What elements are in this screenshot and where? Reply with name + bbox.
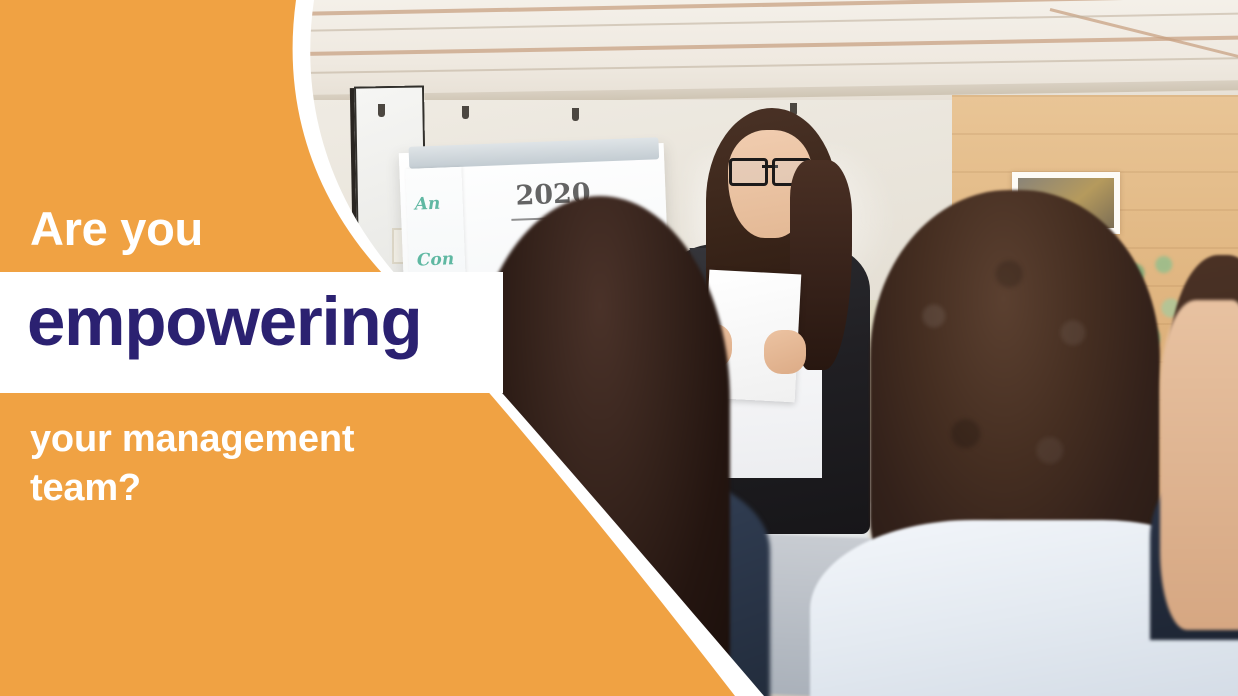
attendee-right-arm: [1160, 300, 1238, 630]
promo-banner: An Con 2020 10: [0, 0, 1238, 696]
attendee-front-left-head: [470, 196, 730, 696]
ceiling-hook: [378, 104, 385, 117]
headline-emphasis-word: empowering: [27, 287, 421, 356]
flipchart-text-con: Con: [417, 249, 455, 270]
headline-line-1: Are you: [30, 205, 203, 252]
flipchart-text-an: An: [414, 194, 440, 215]
glasses-lens-left: [729, 158, 768, 186]
presenter-hand-right: [764, 330, 806, 374]
headline-line-3: your management team?: [30, 415, 460, 512]
ceiling-hook: [572, 108, 579, 121]
ceiling-hook: [462, 106, 469, 119]
